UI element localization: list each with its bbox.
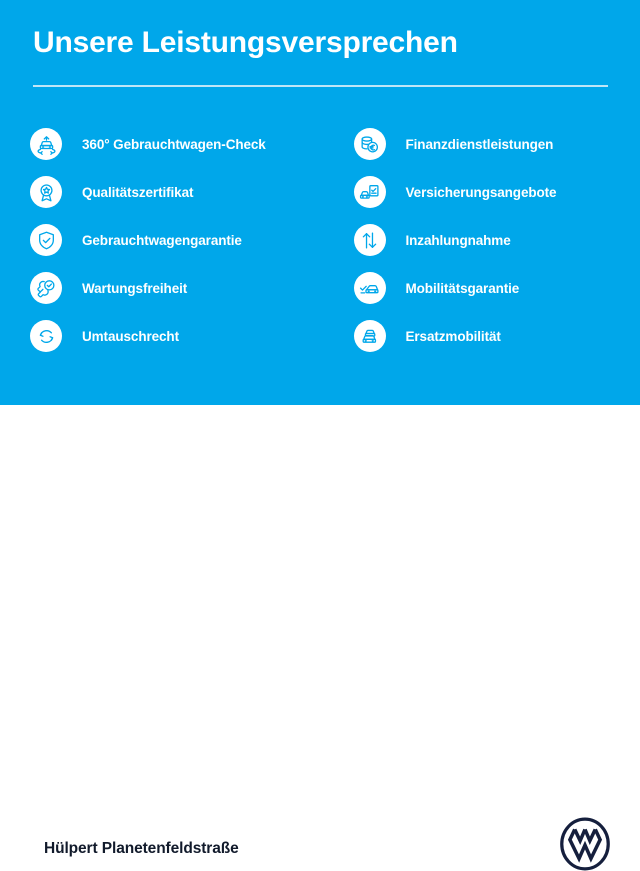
benefit-item-trade-in[interactable]: Inzahlungnahme	[354, 216, 640, 264]
volkswagen-logo	[558, 817, 612, 871]
award-ribbon-icon	[30, 176, 62, 208]
benefit-item-insurance-offers[interactable]: Versicherungsangebote	[354, 168, 640, 216]
benefit-item-mobility-guarantee[interactable]: Mobilitätsgarantie	[354, 264, 640, 312]
benefits-column-left: 360° Gebrauchtwagen-Check Qualitätszerti…	[0, 120, 317, 360]
title-divider	[33, 85, 608, 87]
benefits-grid: 360° Gebrauchtwagen-Check Qualitätszerti…	[0, 120, 640, 360]
dealer-name: Hülpert Planetenfeldstraße	[44, 840, 239, 858]
benefit-item-used-car-warranty[interactable]: Gebrauchtwagengarantie	[30, 216, 317, 264]
benefit-label: Versicherungsangebote	[406, 185, 557, 200]
car-document-icon	[354, 176, 386, 208]
promo-slide: Unsere Leistungsversprechen	[0, 0, 640, 480]
up-down-arrows-icon	[354, 224, 386, 256]
benefit-label: Ersatzmobilität	[406, 329, 501, 344]
benefit-label: Qualitätszertifikat	[82, 185, 193, 200]
benefit-item-maintenance-free[interactable]: Wartungsfreiheit	[30, 264, 317, 312]
benefit-label: Finanzdienstleistungen	[406, 137, 554, 152]
benefit-label: Wartungsfreiheit	[82, 281, 187, 296]
car-check-icon	[354, 272, 386, 304]
benefit-item-exchange-right[interactable]: Umtauschrecht	[30, 312, 317, 360]
exchange-arrows-icon	[30, 320, 62, 352]
benefit-item-quality-certificate[interactable]: Qualitätszertifikat	[30, 168, 317, 216]
benefit-item-replacement-mobility[interactable]: Ersatzmobilität	[354, 312, 640, 360]
benefit-item-financial-services[interactable]: Finanzdienstleistungen	[354, 120, 640, 168]
two-cars-icon	[354, 320, 386, 352]
benefit-item-360-check[interactable]: 360° Gebrauchtwagen-Check	[30, 120, 317, 168]
footer-bar: Hülpert Planetenfeldstraße	[0, 405, 640, 480]
benefit-label: 360° Gebrauchtwagen-Check	[82, 137, 266, 152]
hero-panel: Unsere Leistungsversprechen	[0, 0, 640, 405]
car-360-check-icon	[30, 128, 62, 160]
benefit-label: Umtauschrecht	[82, 329, 179, 344]
coins-euro-icon	[354, 128, 386, 160]
shield-check-icon	[30, 224, 62, 256]
benefit-label: Gebrauchtwagengarantie	[82, 233, 242, 248]
benefit-label: Mobilitätsgarantie	[406, 281, 520, 296]
wrench-check-icon	[30, 272, 62, 304]
benefits-column-right: Finanzdienstleistungen	[317, 120, 640, 360]
page-title: Unsere Leistungsversprechen	[33, 26, 458, 60]
benefit-label: Inzahlungnahme	[406, 233, 511, 248]
